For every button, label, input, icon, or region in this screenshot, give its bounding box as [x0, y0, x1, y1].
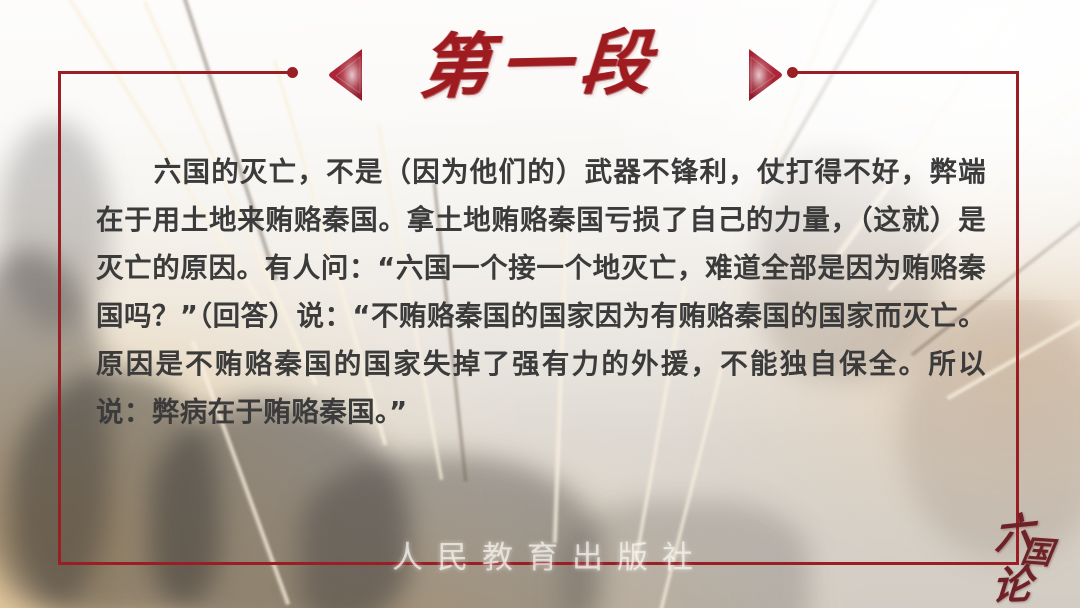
corner-mark-liuguolun: 六 国 论: [992, 503, 1066, 599]
frame-border-right: [1016, 71, 1019, 565]
frame-border-left: [58, 71, 61, 565]
slide-canvas: 第一段 六国的灭亡，不是（因为他们的）武器不锋利，仗打得不好，弊端在于用土地来贿…: [0, 0, 1080, 608]
body-paragraph: 六国的灭亡，不是（因为他们的）武器不锋利，仗打得不好，弊端在于用土地来贿赂秦国。…: [96, 148, 986, 436]
background-watermark: 人民教育出版社: [392, 532, 707, 577]
corner-mark-char-3: 论: [990, 552, 1034, 608]
